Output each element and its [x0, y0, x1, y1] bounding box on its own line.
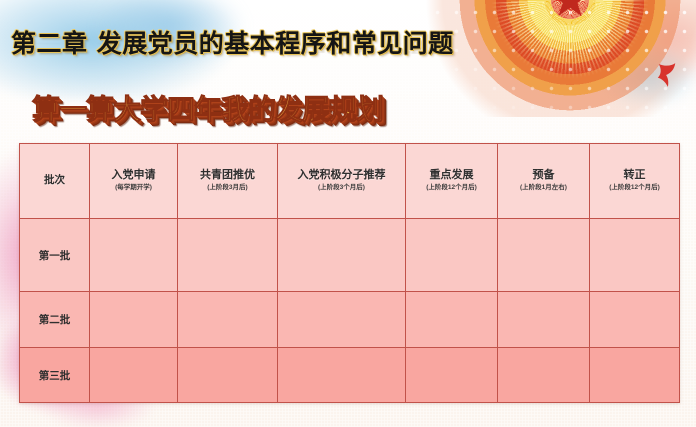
sunburst-icon — [420, 0, 696, 117]
header-label: 共青团推优 — [178, 169, 277, 183]
table-row: 第二批 — [20, 292, 680, 348]
table-row: 第三批 — [20, 348, 680, 403]
table-cell-input[interactable] — [590, 292, 680, 348]
table-cell-input[interactable] — [178, 292, 278, 348]
header-label: 转正 — [590, 169, 679, 183]
header-label: 批次 — [20, 174, 89, 187]
table-cell-input[interactable] — [178, 348, 278, 403]
table-cell-input[interactable] — [278, 348, 406, 403]
table-cell-input[interactable] — [498, 219, 590, 292]
table-cell-input[interactable] — [498, 348, 590, 403]
header-sublabel: (上阶段3个月后) — [278, 184, 405, 192]
red-star-icon — [550, 0, 590, 20]
header-label: 重点发展 — [406, 169, 497, 183]
table-cell-input[interactable] — [90, 348, 178, 403]
header-sublabel: (上阶段12个月后) — [590, 184, 679, 192]
header-label: 预备 — [498, 169, 589, 183]
page-subtitle: 算一算大学四年我的发展规划 — [32, 88, 383, 128]
header-label: 入党积极分子推荐 — [278, 169, 405, 183]
batch-label: 第二批 — [20, 312, 89, 327]
header-sublabel: (上阶段1月左右) — [498, 184, 589, 192]
red-ribbon-icon — [656, 62, 678, 88]
header-sublabel: (上阶段12个月后) — [406, 184, 497, 192]
table-cell-input[interactable] — [90, 292, 178, 348]
table-header-cell-full-membership: 转正 (上阶段12个月后) — [590, 144, 680, 219]
table-row: 第一批 — [20, 219, 680, 292]
table-cell-input[interactable] — [406, 348, 498, 403]
table-header-cell-league-recommendation: 共青团推优 (上阶段3月后) — [178, 144, 278, 219]
table-header-row: 批次 入党申请 (每学期开学) 共青团推优 (上阶段3月后) 入党积极分子推荐 … — [20, 144, 680, 219]
table-header-cell-probationary: 预备 (上阶段1月左右) — [498, 144, 590, 219]
slide-root: 第二章 发展党员的基本程序和常见问题 第二章 发展党员的基本程序和常见问题 算一… — [0, 0, 696, 427]
row-label-cell: 第一批 — [20, 219, 90, 292]
batch-label: 第一批 — [20, 248, 89, 263]
row-label-cell: 第三批 — [20, 348, 90, 403]
header-label: 入党申请 — [90, 169, 177, 183]
table-header-cell-key-development: 重点发展 (上阶段12个月后) — [406, 144, 498, 219]
header-sublabel: (上阶段3月后) — [178, 184, 277, 192]
table-header-cell-activist-recommendation: 入党积极分子推荐 (上阶段3个月后) — [278, 144, 406, 219]
table-cell-input[interactable] — [406, 219, 498, 292]
table-cell-input[interactable] — [590, 348, 680, 403]
development-plan-table: 批次 入党申请 (每学期开学) 共青团推优 (上阶段3月后) 入党积极分子推荐 … — [19, 143, 680, 403]
row-label-cell: 第二批 — [20, 292, 90, 348]
table-cell-input[interactable] — [590, 219, 680, 292]
table-cell-input[interactable] — [406, 292, 498, 348]
header-sublabel: (每学期开学) — [90, 184, 177, 192]
table-cell-input[interactable] — [278, 292, 406, 348]
page-title: 第二章 发展党员的基本程序和常见问题 — [11, 24, 454, 60]
batch-label: 第三批 — [20, 368, 89, 383]
table-cell-input[interactable] — [178, 219, 278, 292]
table-header-cell-application: 入党申请 (每学期开学) — [90, 144, 178, 219]
table-header-cell-batch: 批次 — [20, 144, 90, 219]
table-cell-input[interactable] — [498, 292, 590, 348]
table-cell-input[interactable] — [278, 219, 406, 292]
table-cell-input[interactable] — [90, 219, 178, 292]
